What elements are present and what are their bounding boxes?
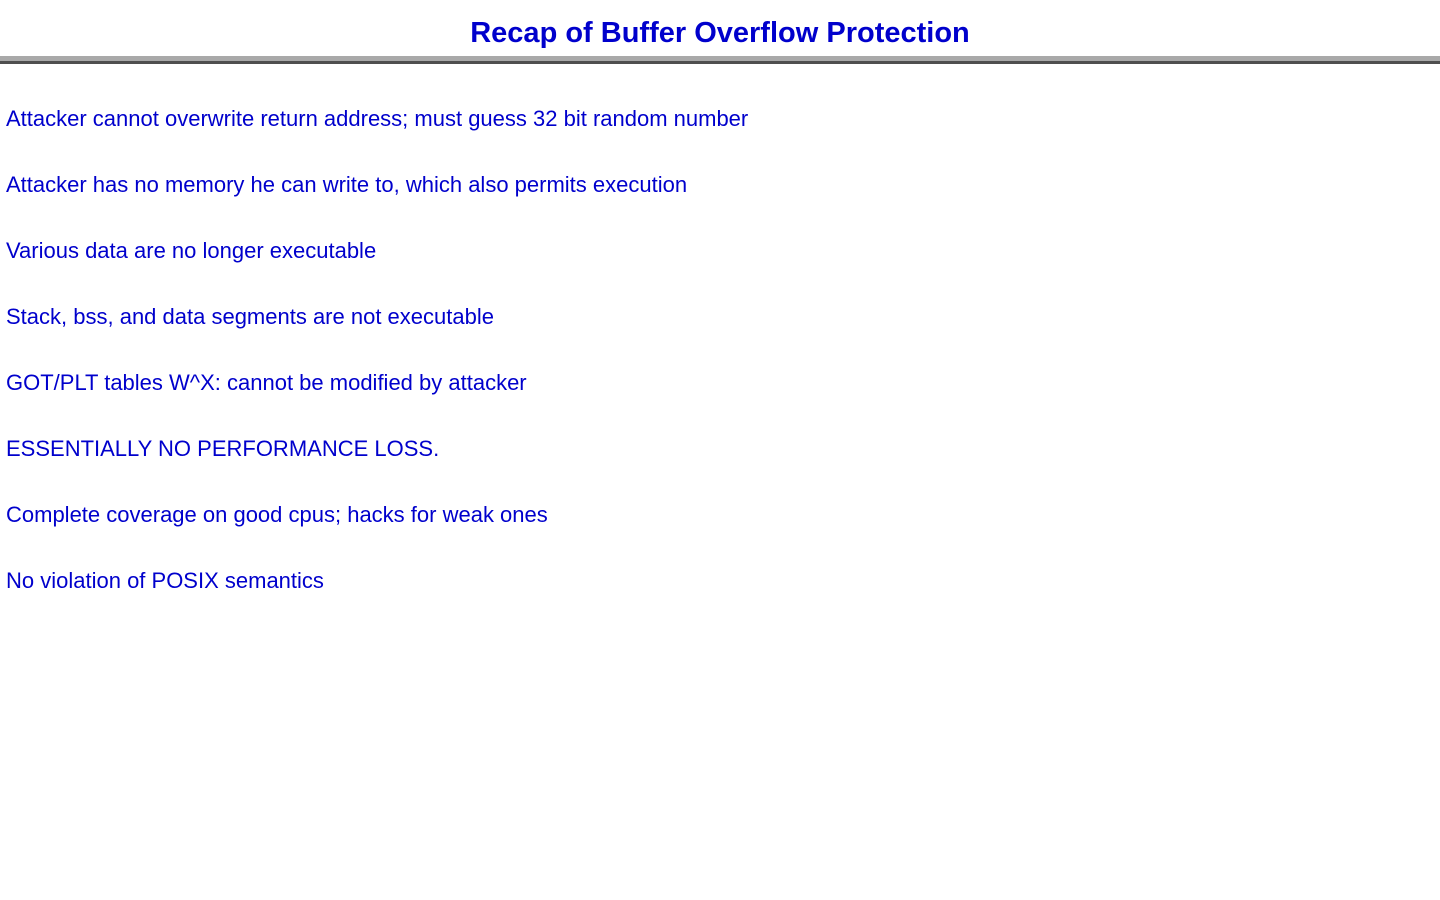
body-line-6: ESSENTIALLY NO PERFORMANCE LOSS. [6,436,1406,462]
body-line-3: Various data are no longer executable [6,238,1406,264]
body-line-7: Complete coverage on good cpus; hacks fo… [6,502,1406,528]
slide-body: Attacker cannot overwrite return address… [6,106,1406,594]
slide-root: Recap of Buffer Overflow Protection Atta… [0,0,1440,900]
body-line-5: GOT/PLT tables W^X: cannot be modified b… [6,370,1406,396]
title-divider [0,56,1440,64]
body-line-8: No violation of POSIX semantics [6,568,1406,594]
body-line-4: Stack, bss, and data segments are not ex… [6,304,1406,330]
body-line-1: Attacker cannot overwrite return address… [6,106,1406,132]
body-line-2: Attacker has no memory he can write to, … [6,172,1406,198]
page-title: Recap of Buffer Overflow Protection [0,16,1440,50]
